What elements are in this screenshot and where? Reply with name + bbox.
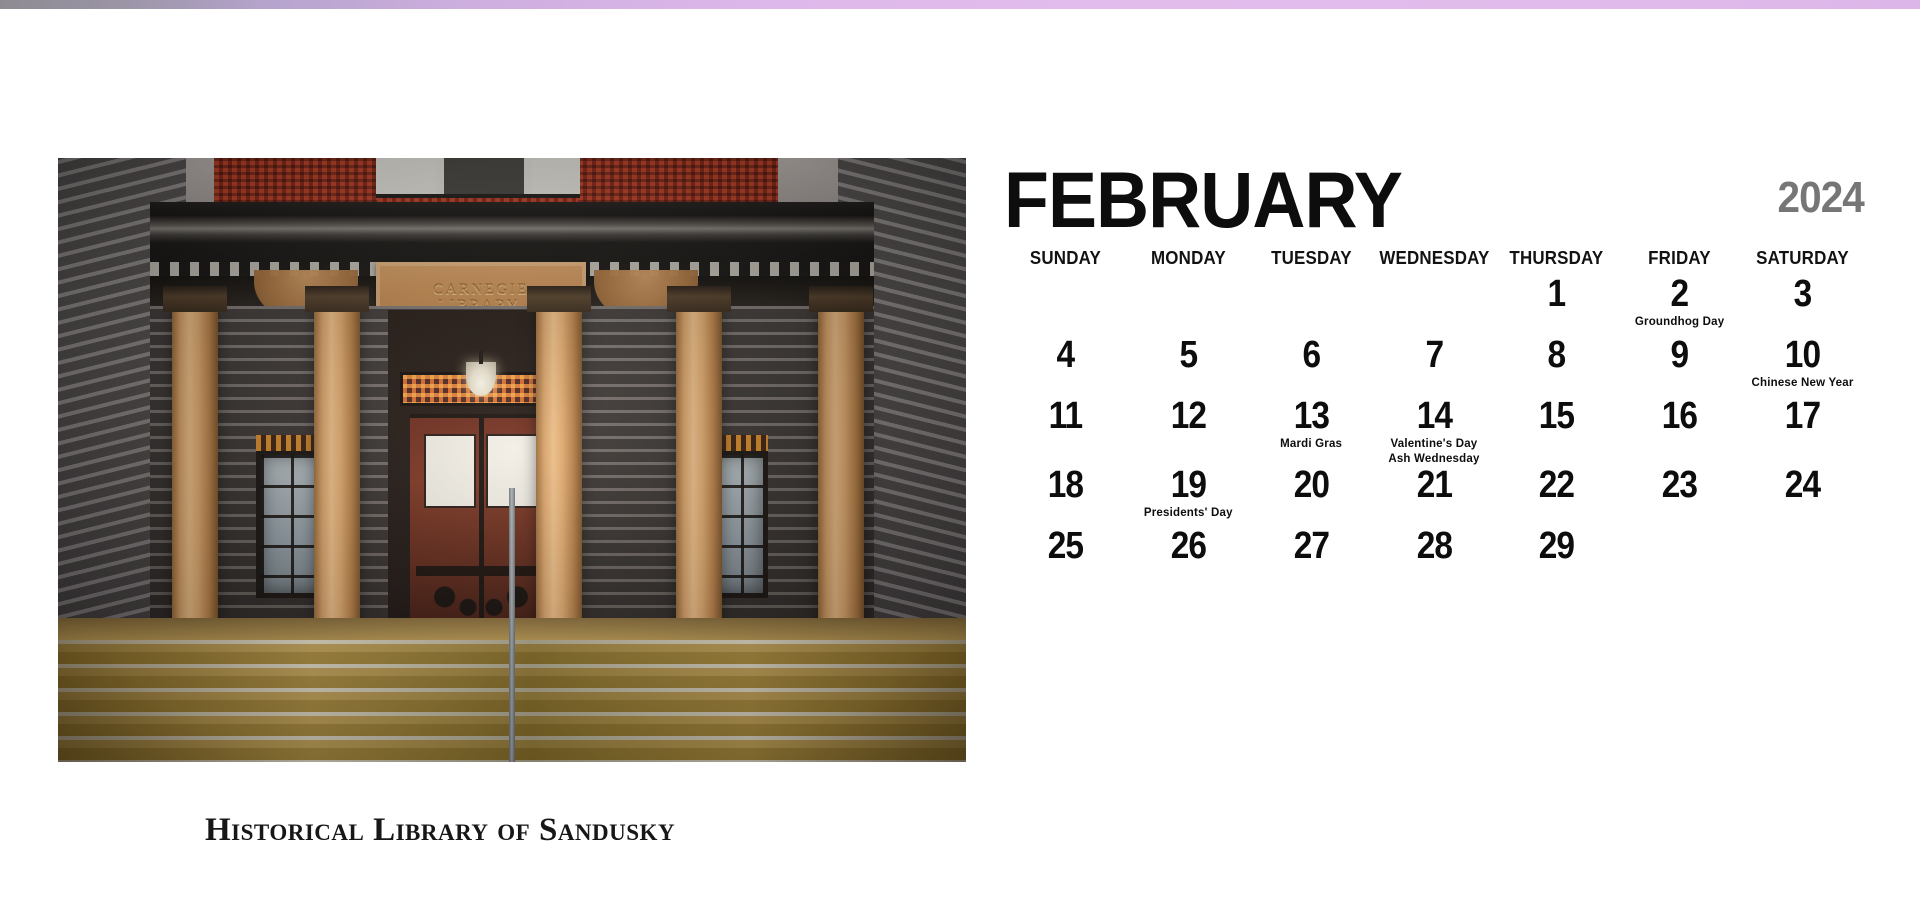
calendar-empty-cell bbox=[1250, 275, 1373, 336]
weekday-friday: FRIDAY bbox=[1622, 244, 1737, 275]
weekday-monday: MONDAY bbox=[1131, 244, 1246, 275]
calendar-day-cell[interactable]: 2Groundhog Day bbox=[1618, 275, 1741, 336]
calendar-day-cell[interactable]: 8 bbox=[1495, 336, 1618, 397]
day-number: 10 bbox=[1748, 336, 1856, 375]
calendar-day-cell[interactable]: 27 bbox=[1250, 527, 1373, 588]
top-gradient-strip bbox=[0, 0, 1920, 9]
day-number: 18 bbox=[1011, 466, 1119, 505]
calendar-body: 12Groundhog Day345678910Chinese New Year… bbox=[1004, 275, 1864, 588]
year-label: 2024 bbox=[1778, 176, 1864, 220]
day-number: 11 bbox=[1011, 397, 1119, 436]
calendar-day-cell[interactable]: 14Valentine's DayAsh Wednesday bbox=[1373, 397, 1496, 466]
calendar-day-cell[interactable]: 22 bbox=[1495, 466, 1618, 527]
calendar-day-cell[interactable]: 5 bbox=[1127, 336, 1250, 397]
day-number: 17 bbox=[1748, 397, 1856, 436]
calendar-day-cell[interactable]: 19Presidents' Day bbox=[1127, 466, 1250, 527]
calendar-day-cell[interactable]: 17 bbox=[1741, 397, 1864, 466]
calendar-day-cell[interactable]: 6 bbox=[1250, 336, 1373, 397]
holiday-label: Presidents' Day bbox=[1127, 506, 1250, 520]
calendar-empty-cell bbox=[1618, 527, 1741, 588]
column-4 bbox=[676, 308, 722, 644]
door-ironwork bbox=[416, 554, 546, 628]
weekday-sunday: SUNDAY bbox=[1008, 244, 1123, 275]
day-number: 6 bbox=[1257, 336, 1365, 375]
day-number: 19 bbox=[1134, 466, 1242, 505]
photo-caption: Historical Library of Sandusky bbox=[205, 812, 675, 849]
day-number: 25 bbox=[1011, 527, 1119, 566]
calendar-day-cell[interactable]: 23 bbox=[1618, 466, 1741, 527]
column-1 bbox=[172, 308, 218, 644]
day-number: 8 bbox=[1503, 336, 1611, 375]
day-number: 5 bbox=[1134, 336, 1242, 375]
calendar-week-row: 2526272829 bbox=[1004, 527, 1864, 588]
calendar-grid: SUNDAY MONDAY TUESDAY WEDNESDAY THURSDAY… bbox=[1004, 244, 1864, 588]
weekday-header-row: SUNDAY MONDAY TUESDAY WEDNESDAY THURSDAY… bbox=[1004, 244, 1864, 275]
calendar-day-cell[interactable]: 4 bbox=[1004, 336, 1127, 397]
calendar-header: FEBRUARY 2024 bbox=[1004, 172, 1864, 244]
handrail-pole bbox=[509, 488, 515, 762]
holiday-label: Valentine's Day bbox=[1373, 437, 1496, 451]
weekday-tuesday: TUESDAY bbox=[1253, 244, 1368, 275]
calendar-day-cell[interactable]: 11 bbox=[1004, 397, 1127, 466]
calendar-day-cell[interactable]: 15 bbox=[1495, 397, 1618, 466]
calendar-day-cell[interactable]: 29 bbox=[1495, 527, 1618, 588]
column-5 bbox=[818, 308, 864, 644]
day-number: 2 bbox=[1626, 275, 1734, 314]
weekday-thursday: THURSDAY bbox=[1499, 244, 1614, 275]
weekday-wednesday: WEDNESDAY bbox=[1376, 244, 1491, 275]
calendar-empty-cell bbox=[1741, 527, 1864, 588]
calendar-empty-cell bbox=[1004, 275, 1127, 336]
day-number: 23 bbox=[1626, 466, 1734, 505]
column-3 bbox=[536, 308, 582, 644]
calendar-day-cell[interactable]: 13Mardi Gras bbox=[1250, 397, 1373, 466]
day-number: 20 bbox=[1257, 466, 1365, 505]
calendar-day-cell[interactable]: 26 bbox=[1127, 527, 1250, 588]
calendar-empty-cell bbox=[1127, 275, 1250, 336]
calendar-week-row: 45678910Chinese New Year bbox=[1004, 336, 1864, 397]
day-number: 3 bbox=[1748, 275, 1856, 314]
day-number: 27 bbox=[1257, 527, 1365, 566]
day-number: 16 bbox=[1626, 397, 1734, 436]
day-number: 22 bbox=[1503, 466, 1611, 505]
day-number: 28 bbox=[1380, 527, 1488, 566]
calendar-day-cell[interactable]: 18 bbox=[1004, 466, 1127, 527]
calendar-day-cell[interactable]: 9 bbox=[1618, 336, 1741, 397]
entry-doors bbox=[410, 414, 552, 630]
day-number: 29 bbox=[1503, 527, 1611, 566]
day-number: 13 bbox=[1257, 397, 1365, 436]
calendar-week-row: 111213Mardi Gras14Valentine's DayAsh Wed… bbox=[1004, 397, 1864, 466]
day-number: 7 bbox=[1380, 336, 1488, 375]
calendar-day-cell[interactable]: 3 bbox=[1741, 275, 1864, 336]
weekday-saturday: SATURDAY bbox=[1745, 244, 1861, 275]
day-number: 26 bbox=[1134, 527, 1242, 566]
calendar-day-cell[interactable]: 20 bbox=[1250, 466, 1373, 527]
holiday-label: Chinese New Year bbox=[1741, 376, 1864, 390]
holiday-label: Mardi Gras bbox=[1250, 437, 1373, 451]
holiday-label: Groundhog Day bbox=[1618, 315, 1741, 329]
month-title: FEBRUARY bbox=[1004, 160, 1402, 239]
day-number: 21 bbox=[1380, 466, 1488, 505]
upper-window bbox=[376, 158, 580, 198]
calendar-empty-cell bbox=[1373, 275, 1496, 336]
calendar-day-cell[interactable]: 16 bbox=[1618, 397, 1741, 466]
calendar-week-row: 1819Presidents' Day2021222324 bbox=[1004, 466, 1864, 527]
day-number: 14 bbox=[1380, 397, 1488, 436]
calendar-day-cell[interactable]: 25 bbox=[1004, 527, 1127, 588]
calendar-day-cell[interactable]: 1 bbox=[1495, 275, 1618, 336]
calendar-day-cell[interactable]: 28 bbox=[1373, 527, 1496, 588]
day-number: 4 bbox=[1011, 336, 1119, 375]
photo-image: CARNEGIE LIBRARY. bbox=[58, 158, 966, 762]
day-number: 9 bbox=[1626, 336, 1734, 375]
calendar-day-cell[interactable]: 12 bbox=[1127, 397, 1250, 466]
library-photo: CARNEGIE LIBRARY. bbox=[58, 158, 966, 762]
day-number: 15 bbox=[1503, 397, 1611, 436]
door-notice-left bbox=[424, 434, 476, 508]
day-number: 1 bbox=[1503, 275, 1611, 314]
calendar-day-cell[interactable]: 10Chinese New Year bbox=[1741, 336, 1864, 397]
calendar-page: CARNEGIE LIBRARY. bbox=[0, 0, 1920, 907]
calendar-day-cell[interactable]: 7 bbox=[1373, 336, 1496, 397]
day-number: 12 bbox=[1134, 397, 1242, 436]
calendar-day-cell[interactable]: 21 bbox=[1373, 466, 1496, 527]
day-number: 24 bbox=[1748, 466, 1856, 505]
column-2 bbox=[314, 308, 360, 644]
calendar-week-row: 12Groundhog Day3 bbox=[1004, 275, 1864, 336]
calendar-block: FEBRUARY 2024 SUNDAY MONDAY TUESDAY WEDN… bbox=[1004, 172, 1864, 588]
plaque-line-1: CARNEGIE bbox=[433, 282, 529, 298]
calendar-day-cell[interactable]: 24 bbox=[1741, 466, 1864, 527]
